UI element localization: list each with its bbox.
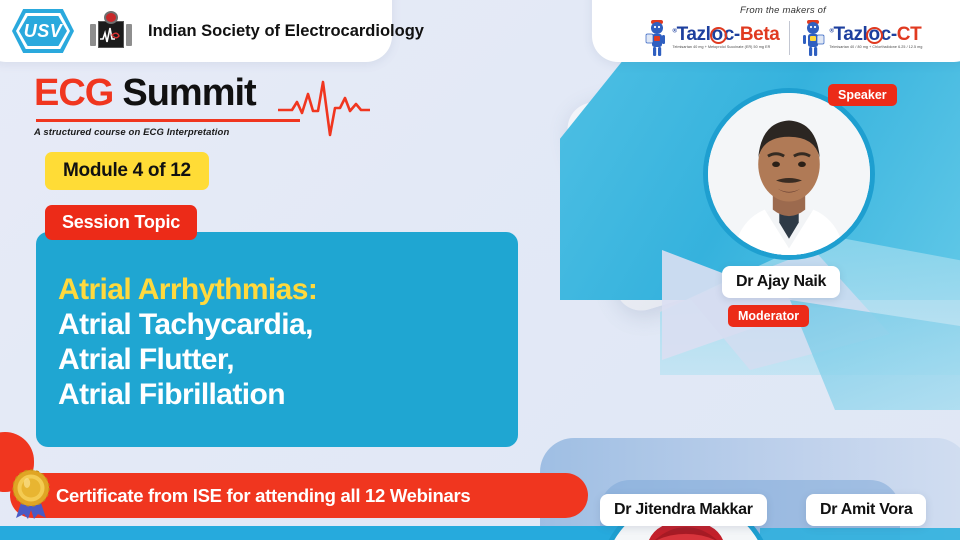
page-subtitle: A structured course on ECG Interpretatio… xyxy=(34,127,256,138)
decor-teal-footer-bar-right xyxy=(760,528,960,540)
speaker-photo xyxy=(708,93,870,255)
topic-line-3: Atrial Flutter, xyxy=(58,342,518,377)
mascot-icon xyxy=(644,18,670,58)
from-the-makers-of-label: From the makers of xyxy=(608,5,958,16)
brand-composition-beta: Telmisartan 40 mg + Metoprolol Succinate… xyxy=(673,46,780,50)
brand-divider xyxy=(789,21,790,55)
webinar-poster: USV Indian Society of Electrocardiology … xyxy=(0,0,960,540)
certificate-label: Certificate from ISE for attending all 1… xyxy=(56,485,470,507)
brand-name-ct: ®Tazloc-CT xyxy=(829,25,922,44)
session-topic-panel: Atrial Arrhythmias: Atrial Tachycardia, … xyxy=(36,232,518,447)
title-summit: Summit xyxy=(122,72,255,115)
speaker-avatar xyxy=(703,88,875,260)
topic-line-4: Atrial Fibrillation xyxy=(58,377,518,412)
award-medal-icon xyxy=(8,466,56,520)
moderator-role-badge: Moderator xyxy=(728,305,809,327)
topic-line-1: Atrial Arrhythmias: xyxy=(58,272,518,307)
moderator1-name-label: Dr Jitendra Makkar xyxy=(600,494,767,526)
topic-line-2: Atrial Tachycardia, xyxy=(58,307,518,342)
ise-logo-icon xyxy=(90,11,132,51)
header-right-card: From the makers of xyxy=(592,0,960,62)
session-topic-badge: Session Topic xyxy=(45,205,197,240)
brand-tazloc-ct: ®Tazloc-CT Telmisartan 40 / 80 mg + Chlo… xyxy=(800,18,922,58)
ecg-waveform-icon xyxy=(278,80,370,138)
brand-composition-ct: Telmisartan 40 / 80 mg + Chlorthalidone … xyxy=(829,46,922,50)
decor-teal-footer-bar xyxy=(0,526,660,540)
page-title: ECG Summit A structured course on ECG In… xyxy=(34,72,256,138)
usv-logo-icon: USV xyxy=(12,9,74,53)
title-ecg: ECG xyxy=(34,72,113,115)
header-left-card: USV Indian Society of Electrocardiology xyxy=(0,0,392,62)
brand-tazloc-beta: ®Tazloc-Beta Telmisartan 40 mg + Metopro… xyxy=(644,18,780,58)
decor-facet-three xyxy=(790,300,960,410)
usv-logo-label: USV xyxy=(24,21,63,42)
moderator2-name-label: Dr Amit Vora xyxy=(806,494,926,526)
mascot-icon xyxy=(800,18,826,58)
brand-name-beta: ®Tazloc-Beta xyxy=(673,25,780,44)
speaker-role-badge: Speaker xyxy=(828,84,897,106)
module-badge: Module 4 of 12 xyxy=(45,152,209,190)
title-underline xyxy=(36,119,300,122)
certificate-banner: Certificate from ISE for attending all 1… xyxy=(10,473,588,518)
speaker-name-label: Dr Ajay Naik xyxy=(722,266,840,298)
society-name-label: Indian Society of Electrocardiology xyxy=(148,22,424,41)
